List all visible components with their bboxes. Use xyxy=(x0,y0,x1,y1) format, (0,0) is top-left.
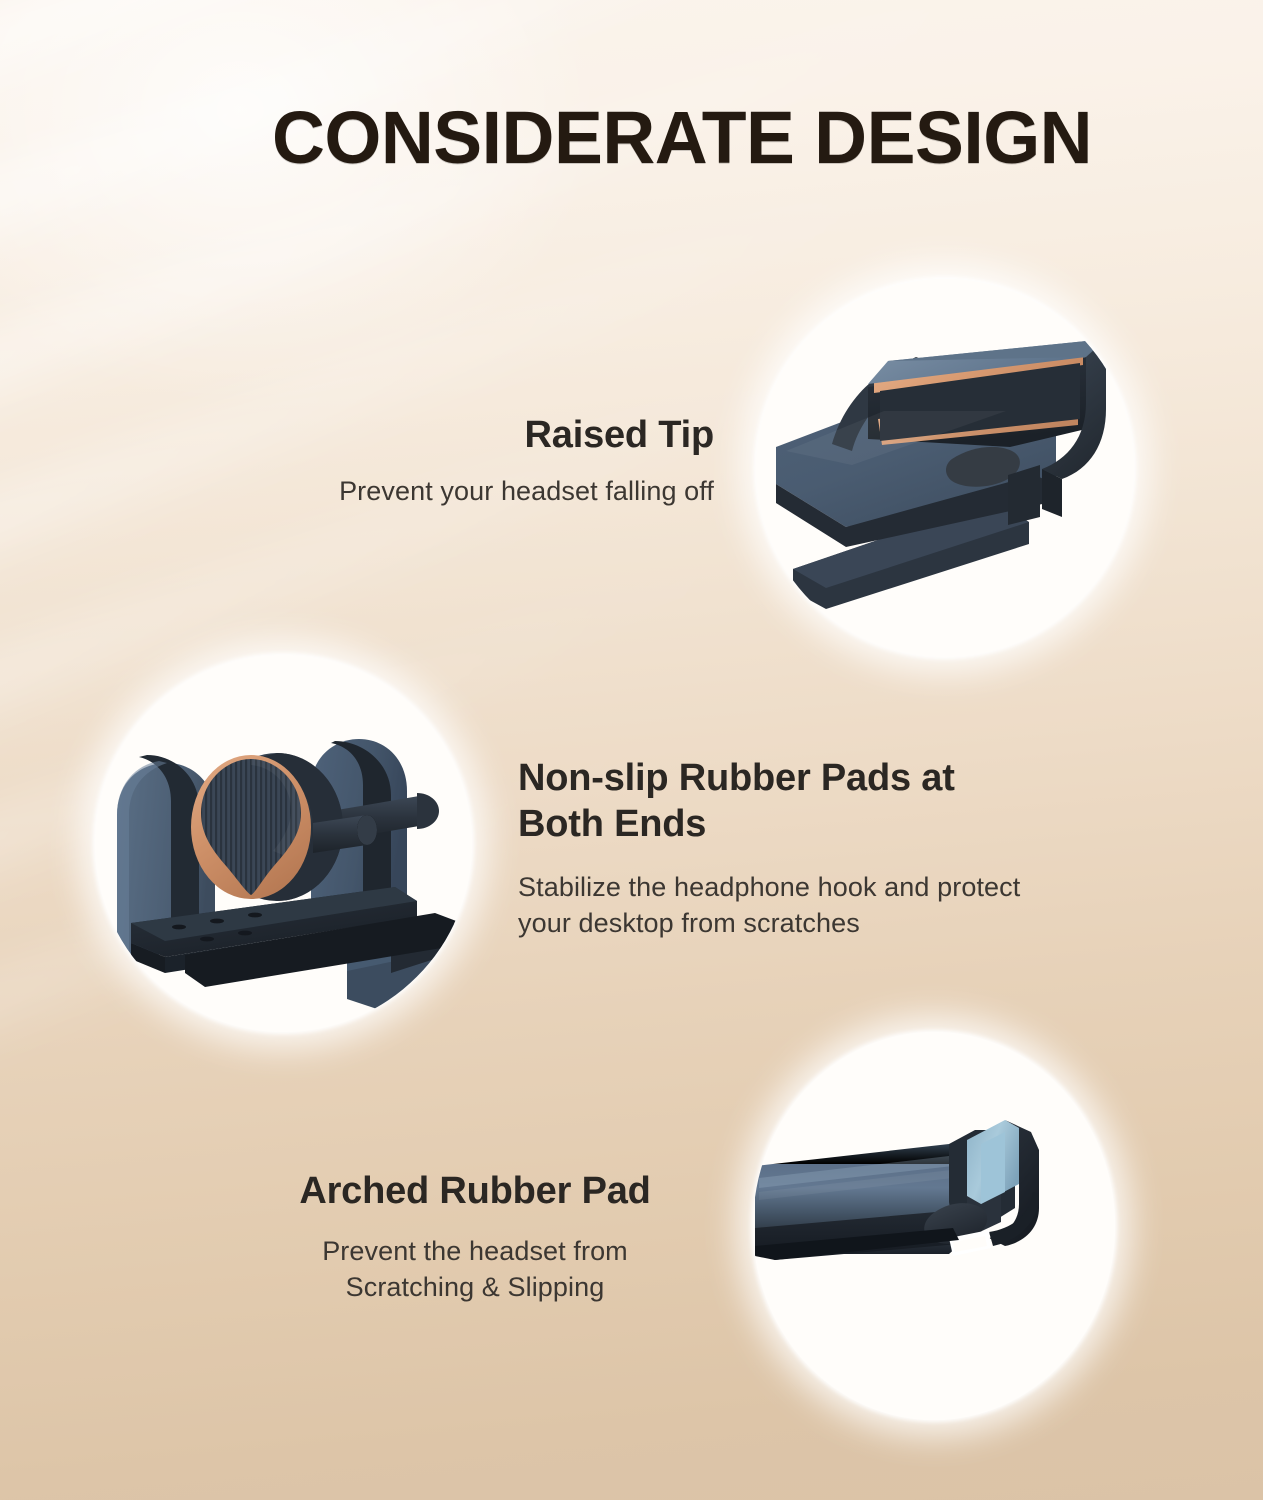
feature-body-arched-pad-line2: Scratching & Slipping xyxy=(346,1272,605,1302)
feature-body-rubber-pads-line1: Stabilize the headphone hook and protect xyxy=(518,872,1020,902)
feature-heading-rubber-pads: Non-slip Rubber Pads at Both Ends xyxy=(518,755,1190,848)
page-title: CONSIDERATE DESIGN xyxy=(272,95,1092,180)
feature-body-arched-pad-line1: Prevent the headset from xyxy=(322,1236,628,1266)
feature-image-rubber-pads xyxy=(95,655,472,1032)
feature-heading-rubber-pads-line2: Both Ends xyxy=(518,803,706,845)
feature-block-arched-pad: Arched Rubber Pad Prevent the headset fr… xyxy=(230,1168,720,1306)
feature-body-arched-pad: Prevent the headset from Scratching & Sl… xyxy=(230,1234,720,1306)
feature-heading-rubber-pads-line1: Non-slip Rubber Pads at xyxy=(518,757,955,799)
feature-image-raised-tip xyxy=(756,279,1134,657)
feature-body-raised-tip: Prevent your headset falling off xyxy=(180,474,714,510)
feature-body-rubber-pads-line2: your desktop from scratches xyxy=(518,908,860,938)
feature-block-raised-tip: Raised Tip Prevent your headset falling … xyxy=(180,412,714,510)
infographic-page: CONSIDERATE DESIGN Raised Tip Prevent yo… xyxy=(0,0,1263,1500)
feature-image-arched-pad xyxy=(753,1032,1115,1420)
feature-block-rubber-pads: Non-slip Rubber Pads at Both Ends Stabil… xyxy=(518,755,1190,942)
feature-heading-arched-pad: Arched Rubber Pad xyxy=(230,1168,720,1214)
feature-body-rubber-pads: Stabilize the headphone hook and protect… xyxy=(518,870,1190,942)
feature-heading-raised-tip: Raised Tip xyxy=(180,412,714,458)
